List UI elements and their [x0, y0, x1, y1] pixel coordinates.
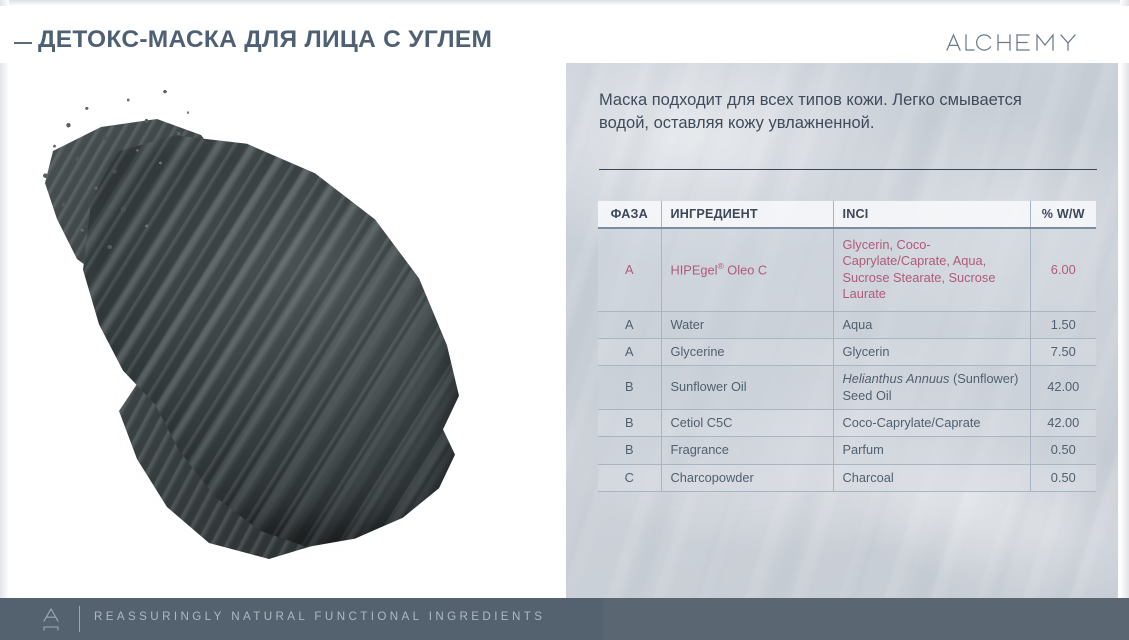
panel-divider: [599, 169, 1097, 170]
table-row: CCharcopowderCharcoal0.50: [598, 464, 1096, 491]
alchemy-logo: [945, 30, 1095, 56]
panel-content: Маска подходит для всех типов кожи. Легк…: [566, 63, 1118, 598]
cell-percent: 0.50: [1030, 437, 1096, 464]
cell-phase: A: [598, 338, 661, 365]
footer-tagline: REASSURINGLY NATURAL FUNCTIONAL INGREDIE…: [94, 610, 545, 623]
cell-inci: Coco-Caprylate/Caprate: [833, 410, 1030, 437]
cell-inci: Glycerin: [833, 338, 1030, 365]
cell-inci: Charcoal: [833, 464, 1030, 491]
table-body: AHIPEgel® Oleo CGlycerin, Coco-Caprylate…: [598, 228, 1096, 492]
col-header-phase: ФАЗА: [598, 201, 661, 228]
col-header-ingredient: ИНГРЕДИЕНТ: [661, 201, 833, 228]
table-row: BCetiol C5CCoco-Caprylate/Caprate42.00: [598, 410, 1096, 437]
table-head: ФАЗА ИНГРЕДИЕНТ INCI % W/W: [598, 201, 1096, 228]
cell-percent: 42.00: [1030, 410, 1096, 437]
cell-inci: Helianthus Annuus (Sunflower) Seed Oil: [833, 366, 1030, 410]
cell-ingredient: Fragrance: [661, 437, 833, 464]
col-header-inci: INCI: [833, 201, 1030, 228]
table-row: BSunflower OilHelianthus Annuus (Sunflow…: [598, 366, 1096, 410]
cell-phase: A: [598, 228, 661, 311]
cell-ingredient: HIPEgel® Oleo C: [661, 228, 833, 311]
panel-intro-text: Маска подходит для всех типов кожи. Легк…: [599, 89, 1043, 136]
table-row: AGlycerineGlycerin7.50: [598, 338, 1096, 365]
product-image: Внешний вид: Черный глянцевый гель Вязко…: [9, 63, 566, 598]
charcoal-smear-graphic: [27, 67, 497, 567]
table-header-row: ФАЗА ИНГРЕДИЕНТ INCI % W/W: [598, 201, 1096, 228]
cell-phase: C: [598, 464, 661, 491]
cell-phase: A: [598, 311, 661, 338]
alchemy-monogram-icon: [38, 606, 64, 633]
formulation-panel: Маска подходит для всех типов кожи. Легк…: [566, 63, 1118, 598]
table-row: AWaterAqua1.50: [598, 311, 1096, 338]
slide-header: ДЕТОКС-МАСКА ДЛЯ ЛИЦА С УГЛЕМ: [0, 6, 1129, 63]
cell-percent: 7.50: [1030, 338, 1096, 365]
slide-root: ДЕТОКС-МАСКА ДЛЯ ЛИЦА С УГЛЕМ: [0, 0, 1129, 640]
title-dash-icon: [14, 42, 32, 44]
table-row: AHIPEgel® Oleo CGlycerin, Coco-Caprylate…: [598, 228, 1096, 311]
cell-ingredient: Glycerine: [661, 338, 833, 365]
table-row: BFragranceParfum0.50: [598, 437, 1096, 464]
page-edge-right: [1120, 0, 1129, 598]
cell-percent: 42.00: [1030, 366, 1096, 410]
footer-divider: [79, 606, 80, 632]
cell-percent: 1.50: [1030, 311, 1096, 338]
formulation-table: ФАЗА ИНГРЕДИЕНТ INCI % W/W AHIPEgel® Ole…: [598, 201, 1096, 492]
cell-phase: B: [598, 437, 661, 464]
cell-phase: B: [598, 410, 661, 437]
cell-inci: Aqua: [833, 311, 1030, 338]
cell-percent: 0.50: [1030, 464, 1096, 491]
col-header-percent: % W/W: [1030, 201, 1096, 228]
cell-ingredient: Water: [661, 311, 833, 338]
page-title: ДЕТОКС-МАСКА ДЛЯ ЛИЦА С УГЛЕМ: [38, 26, 492, 54]
cell-inci: Glycerin, Coco-Caprylate/Caprate, Aqua, …: [833, 228, 1030, 311]
cell-percent: 6.00: [1030, 228, 1096, 311]
cell-inci: Parfum: [833, 437, 1030, 464]
page-edge-left: [0, 0, 9, 598]
footer-bar-accent: [603, 598, 1129, 640]
cell-phase: B: [598, 366, 661, 410]
cell-ingredient: Cetiol C5C: [661, 410, 833, 437]
cell-ingredient: Charcopowder: [661, 464, 833, 491]
cell-ingredient: Sunflower Oil: [661, 366, 833, 410]
smear-core: [67, 127, 467, 547]
